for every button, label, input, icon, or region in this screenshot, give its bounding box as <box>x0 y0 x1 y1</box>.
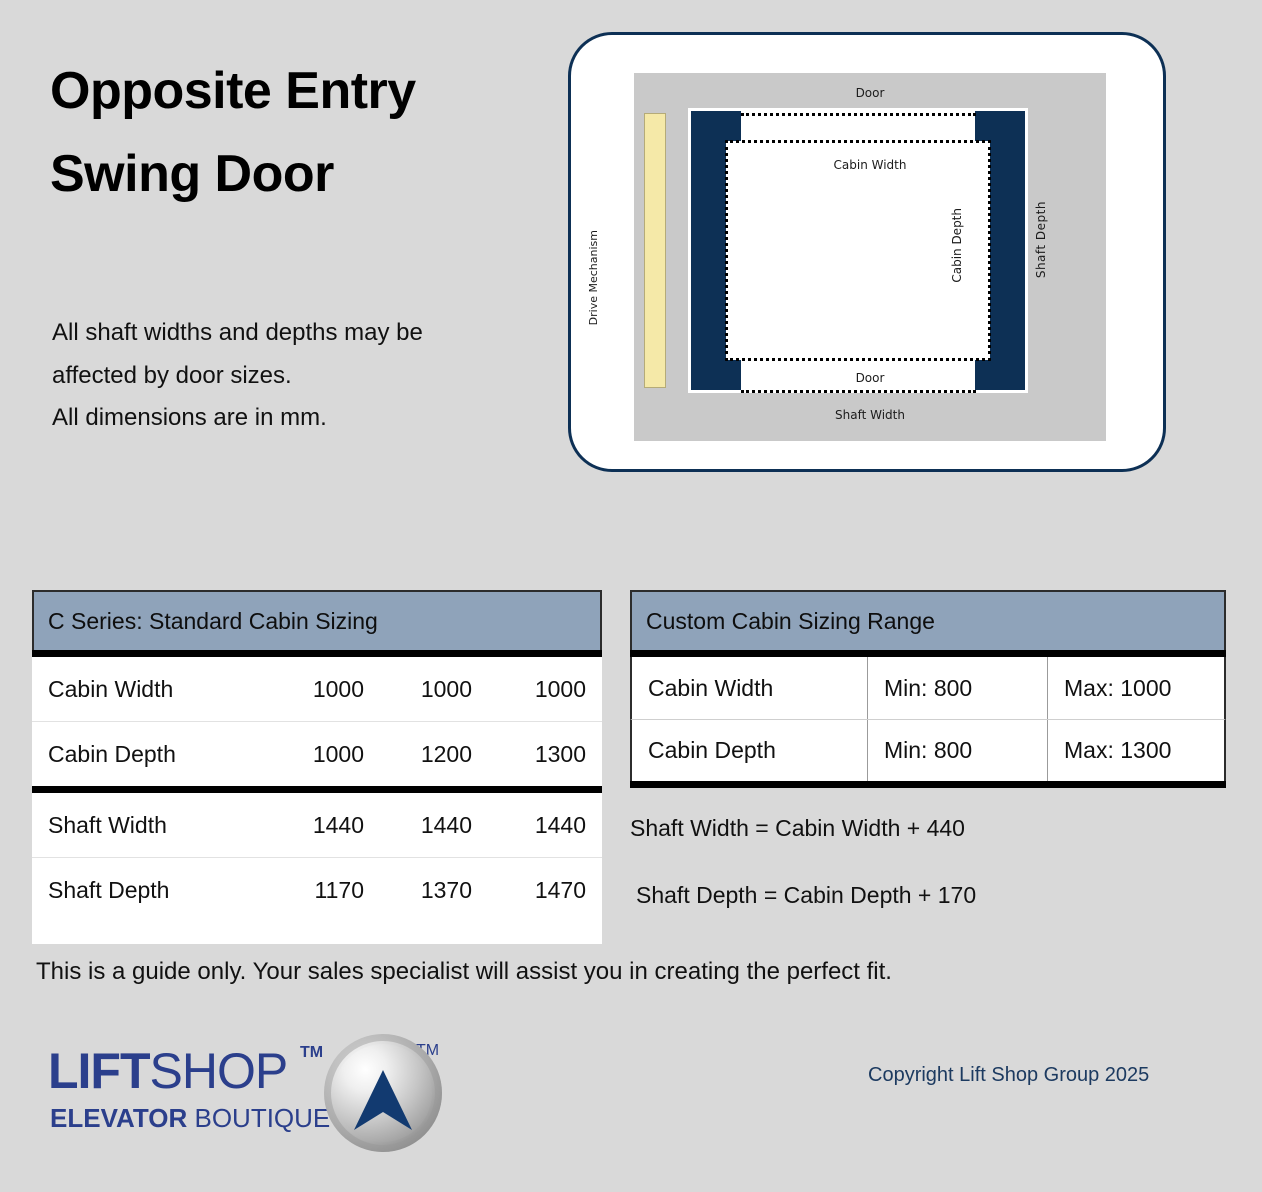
arrow-up-icon <box>352 1070 414 1136</box>
row-value: 1200 <box>380 741 488 768</box>
diagram-label-drive-mechanism: Drive Mechanism <box>587 230 727 325</box>
shaft-dotted-line-top <box>741 113 976 116</box>
page-title-line-1: Opposite Entry <box>50 50 550 133</box>
custom-sizing-table: Custom Cabin Sizing Range Cabin Width Mi… <box>630 590 1226 788</box>
table-row: Cabin Depth 1000 1200 1300 <box>32 722 602 786</box>
standard-sizing-table-header: C Series: Standard Cabin Sizing <box>32 590 602 650</box>
table-bottom-padding <box>32 922 602 944</box>
row-value: 1000 <box>380 676 488 703</box>
row-label: Cabin Depth <box>632 720 868 781</box>
logo-tagline-boutique: BOUTIQUE <box>187 1103 330 1133</box>
logo-trademark-1: TM <box>300 1044 323 1062</box>
diagram-label-cabin-depth: Cabin Depth <box>950 208 964 283</box>
shaft-diagram-card: Door Drive Mechanism Cabin Width Door Sh… <box>568 32 1166 472</box>
shaft-width-formula: Shaft Width = Cabin Width + 440 <box>630 815 965 842</box>
row-min-value: Min: 800 <box>868 657 1048 719</box>
row-value: 1300 <box>488 741 602 768</box>
table-rule-top <box>32 650 602 657</box>
table-row: Cabin Width 1000 1000 1000 <box>32 657 602 721</box>
page-title: Opposite Entry Swing Door <box>50 50 550 216</box>
row-value: 1000 <box>262 676 380 703</box>
diagram-label-shaft-depth: Shaft Depth <box>1034 201 1048 278</box>
row-value: 1440 <box>262 812 380 839</box>
table-row: Cabin Width Min: 800 Max: 1000 <box>630 657 1226 719</box>
logo-badge-inner <box>334 1044 432 1142</box>
logo-word-lift: LIFT <box>48 1043 150 1099</box>
row-value: 1170 <box>262 877 380 904</box>
diagram-label-door-bottom: Door <box>634 371 1106 385</box>
logo-wordmark: LIFTSHOP <box>48 1042 287 1100</box>
guide-disclaimer: This is a guide only. Your sales special… <box>36 958 892 986</box>
note-line-2: affected by door sizes. <box>52 355 552 398</box>
door-post-left-top-foot <box>691 111 741 141</box>
row-label: Shaft Width <box>32 812 262 839</box>
logo-badge <box>324 1034 442 1152</box>
intro-note: All shaft widths and depths may be affec… <box>52 312 552 440</box>
row-value: 1440 <box>488 812 602 839</box>
row-min-value: Min: 800 <box>868 720 1048 781</box>
copyright-text: Copyright Lift Shop Group 2025 <box>868 1064 1149 1087</box>
table-rule-top <box>630 650 1226 657</box>
row-value: 1470 <box>488 877 602 904</box>
table-rule-middle <box>32 786 602 793</box>
shaft-diagram: Door Drive Mechanism Cabin Width Door Sh… <box>634 73 1106 441</box>
standard-sizing-table: C Series: Standard Cabin Sizing Cabin Wi… <box>32 590 602 944</box>
drive-mechanism-bar: Drive Mechanism <box>644 113 666 388</box>
row-value: 1000 <box>262 741 380 768</box>
row-label: Cabin Depth <box>32 741 262 768</box>
row-value: 1000 <box>488 676 602 703</box>
row-label: Shaft Depth <box>32 877 262 904</box>
row-value: 1440 <box>380 812 488 839</box>
note-line-3: All dimensions are in mm. <box>52 397 552 440</box>
page-title-line-2: Swing Door <box>50 133 550 216</box>
row-max-value: Max: 1000 <box>1048 657 1224 719</box>
liftshop-logo: LIFTSHOP TM ELEVATOR BOUTIQUE TM <box>48 1030 448 1160</box>
diagram-label-door-top: Door <box>634 86 1106 100</box>
shaft-depth-formula: Shaft Depth = Cabin Depth + 170 <box>636 882 976 909</box>
table-row: Shaft Width 1440 1440 1440 <box>32 793 602 857</box>
note-line-1: All shaft widths and depths may be <box>52 312 552 355</box>
table-row: Shaft Depth 1170 1370 1470 <box>32 858 602 922</box>
logo-tagline-elevator: ELEVATOR <box>50 1103 187 1133</box>
custom-sizing-table-header: Custom Cabin Sizing Range <box>630 590 1226 650</box>
logo-word-shop: SHOP <box>150 1043 288 1099</box>
shaft-dotted-line-bottom <box>741 390 976 393</box>
row-label: Cabin Width <box>32 676 262 703</box>
diagram-label-cabin-width: Cabin Width <box>634 158 1106 172</box>
logo-tagline: ELEVATOR BOUTIQUE <box>50 1103 330 1134</box>
row-value: 1370 <box>380 877 488 904</box>
row-label: Cabin Width <box>632 657 868 719</box>
diagram-label-shaft-width: Shaft Width <box>634 408 1106 422</box>
table-rule-bottom <box>630 781 1226 788</box>
row-max-value: Max: 1300 <box>1048 720 1224 781</box>
table-row: Cabin Depth Min: 800 Max: 1300 <box>630 719 1226 781</box>
